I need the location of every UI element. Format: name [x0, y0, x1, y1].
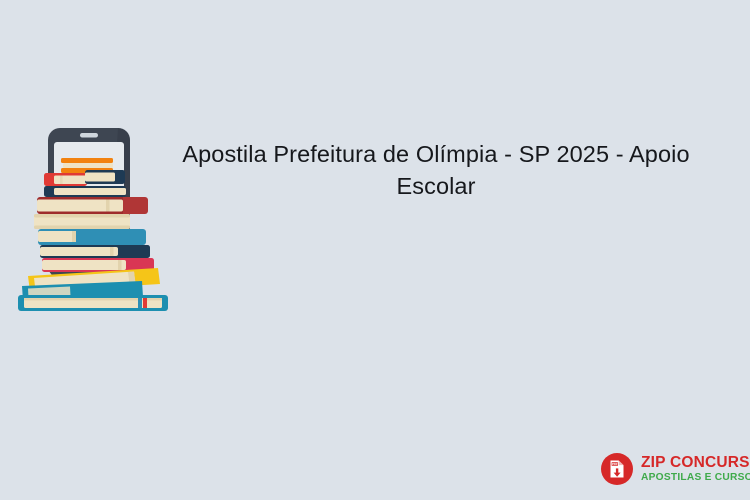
books-illustration [10, 118, 175, 313]
zip-concursos-logo[interactable]: PDF ZIP CONCURSOS APOSTILAS E CURSOS [600, 449, 740, 489]
logo-secondary-text: APOSTILAS E CURSOS [641, 473, 750, 483]
page-title: Apostila Prefeitura de Olímpia - SP 2025… [178, 138, 694, 202]
book-layer-navy [40, 245, 150, 258]
promo-banner: Apostila Prefeitura de Olímpia - SP 2025… [0, 0, 750, 500]
book-base [18, 295, 168, 311]
svg-text:PDF: PDF [612, 462, 618, 466]
book-layer-maroon [37, 197, 148, 214]
logo-primary-text: ZIP CONCURSOS [641, 455, 750, 471]
logo-wordmark: ZIP CONCURSOS APOSTILAS E CURSOS [641, 455, 750, 484]
book-layer-3 [44, 186, 126, 197]
book-layer-teal [38, 229, 146, 245]
book-layer-pages [34, 214, 130, 229]
pdf-download-icon: PDF [600, 452, 634, 486]
